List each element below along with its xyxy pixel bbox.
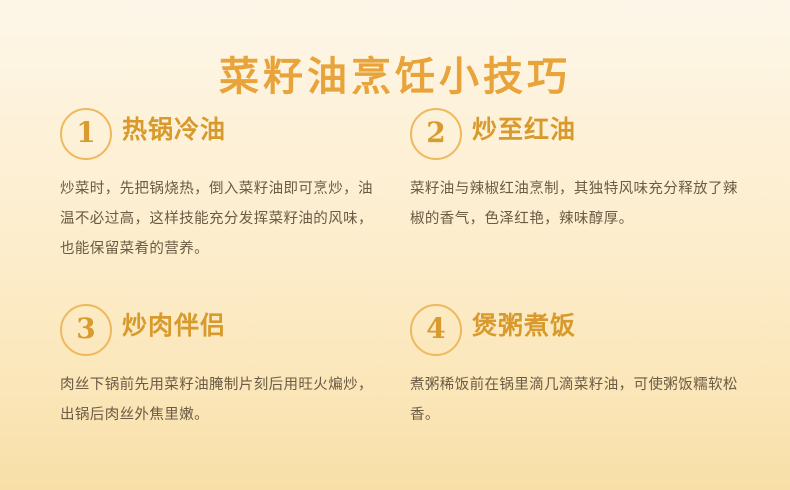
tip-card-1: 1 热锅冷油 炒菜时，先把锅烧热，倒入菜籽油即可烹炒，油温不必过高，这样技能充分… [52, 108, 402, 304]
tips-grid: 1 热锅冷油 炒菜时，先把锅烧热，倒入菜籽油即可烹炒，油温不必过高，这样技能充分… [52, 108, 752, 490]
tip-number-badge-1: 1 [60, 108, 112, 160]
tip-header-4: 4 煲粥煮饭 [410, 304, 752, 356]
tip-body-4: 煮粥稀饭前在锅里滴几滴菜籽油，可使粥饭糯软松香。 [410, 370, 740, 430]
tip-heading-3: 炒肉伴侣 [122, 306, 226, 342]
tip-number-badge-4: 4 [410, 304, 462, 356]
tip-card-2: 2 炒至红油 菜籽油与辣椒红油烹制，其独特风味充分释放了辣椒的香气，色泽红艳，辣… [402, 108, 752, 304]
tip-card-3: 3 炒肉伴侣 肉丝下锅前先用菜籽油腌制片刻后用旺火煸炒，出锅后肉丝外焦里嫩。 [52, 304, 402, 490]
poster-container: 菜籽油烹饪小技巧 1 热锅冷油 炒菜时，先把锅烧热，倒入菜籽油即可烹炒，油温不必… [0, 0, 790, 490]
tip-number-badge-3: 3 [60, 304, 112, 356]
tip-number-4: 4 [426, 315, 445, 345]
tip-number-2: 2 [426, 119, 445, 149]
tip-heading-4: 煲粥煮饭 [472, 306, 576, 342]
tip-body-2: 菜籽油与辣椒红油烹制，其独特风味充分释放了辣椒的香气，色泽红艳，辣味醇厚。 [410, 174, 740, 234]
tip-header-3: 3 炒肉伴侣 [60, 304, 402, 356]
tip-card-4: 4 煲粥煮饭 煮粥稀饭前在锅里滴几滴菜籽油，可使粥饭糯软松香。 [402, 304, 752, 490]
tip-body-3: 肉丝下锅前先用菜籽油腌制片刻后用旺火煸炒，出锅后肉丝外焦里嫩。 [60, 370, 378, 430]
tip-number-badge-2: 2 [410, 108, 462, 160]
page-title: 菜籽油烹饪小技巧 [0, 44, 790, 102]
tip-body-1: 炒菜时，先把锅烧热，倒入菜籽油即可烹炒，油温不必过高，这样技能充分发挥菜籽油的风… [60, 174, 378, 264]
tip-heading-1: 热锅冷油 [122, 110, 226, 146]
tip-number-1: 1 [76, 119, 95, 149]
tip-heading-2: 炒至红油 [472, 110, 576, 146]
tip-header-2: 2 炒至红油 [410, 108, 752, 160]
tip-header-1: 1 热锅冷油 [60, 108, 402, 160]
tip-number-3: 3 [76, 315, 95, 345]
